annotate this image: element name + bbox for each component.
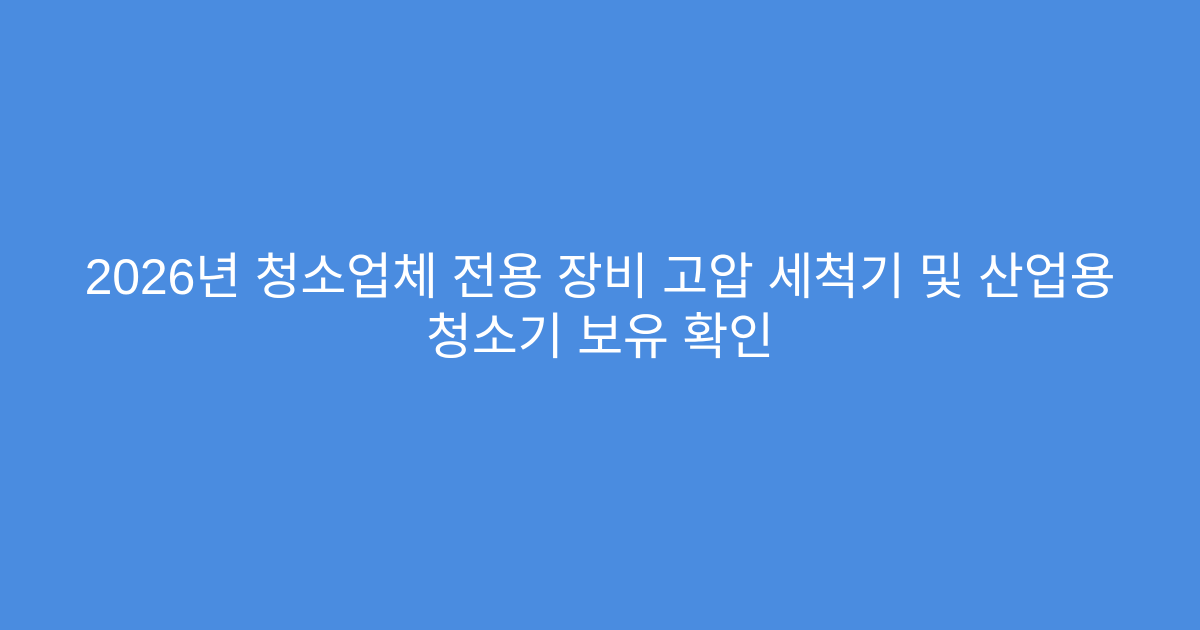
page-title: 2026년 청소업체 전용 장비 고압 세척기 및 산업용 청소기 보유 확인 xyxy=(70,247,1130,367)
card-content: 2026년 청소업체 전용 장비 고압 세척기 및 산업용 청소기 보유 확인 xyxy=(50,247,1150,367)
social-card-canvas: 2026년 청소업체 전용 장비 고압 세척기 및 산업용 청소기 보유 확인 xyxy=(0,0,1200,630)
